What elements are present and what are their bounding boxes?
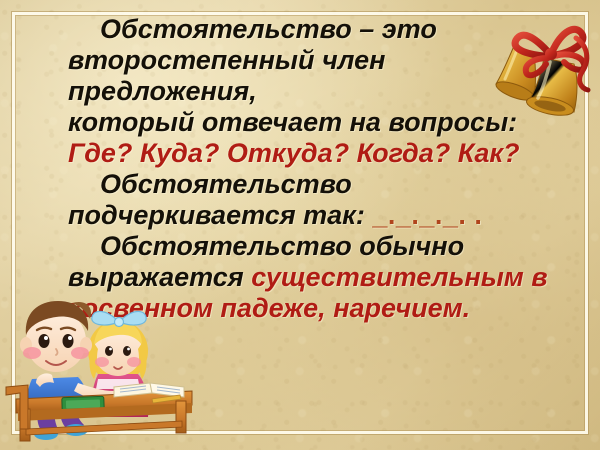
presentation-slide: Обстоятельство – это второстепенный член… — [0, 0, 600, 450]
text-line-8: Обстоятельство обычно — [0, 231, 600, 262]
text-line-5-questions: Где? Куда? Откуда? Когда? Как? — [0, 138, 600, 169]
body-text: второстепенный член — [68, 45, 385, 75]
body-text: подчеркивается так: — [68, 200, 372, 230]
body-text: Обстоятельство — [100, 169, 352, 199]
children-at-desk-illustration — [2, 279, 202, 444]
hair-bow-icon — [92, 311, 146, 326]
body-text: Обстоятельство обычно — [100, 231, 464, 261]
body-text: который отвечает на вопросы: — [68, 107, 517, 137]
body-text: предложения, — [68, 76, 257, 106]
text-line-7-underline-notation: подчеркивается так: _._._._. . — [0, 200, 600, 231]
body-text: Обстоятельство – это — [100, 14, 437, 44]
highlighted-text: существительным в — [251, 262, 547, 292]
school-bells-illustration — [478, 2, 598, 124]
dash-dot-underline-symbol: _._._._. . — [372, 200, 482, 230]
text-line-6: Обстоятельство — [0, 169, 600, 200]
highlighted-text: Где? Куда? Откуда? Когда? Как? — [68, 138, 520, 168]
